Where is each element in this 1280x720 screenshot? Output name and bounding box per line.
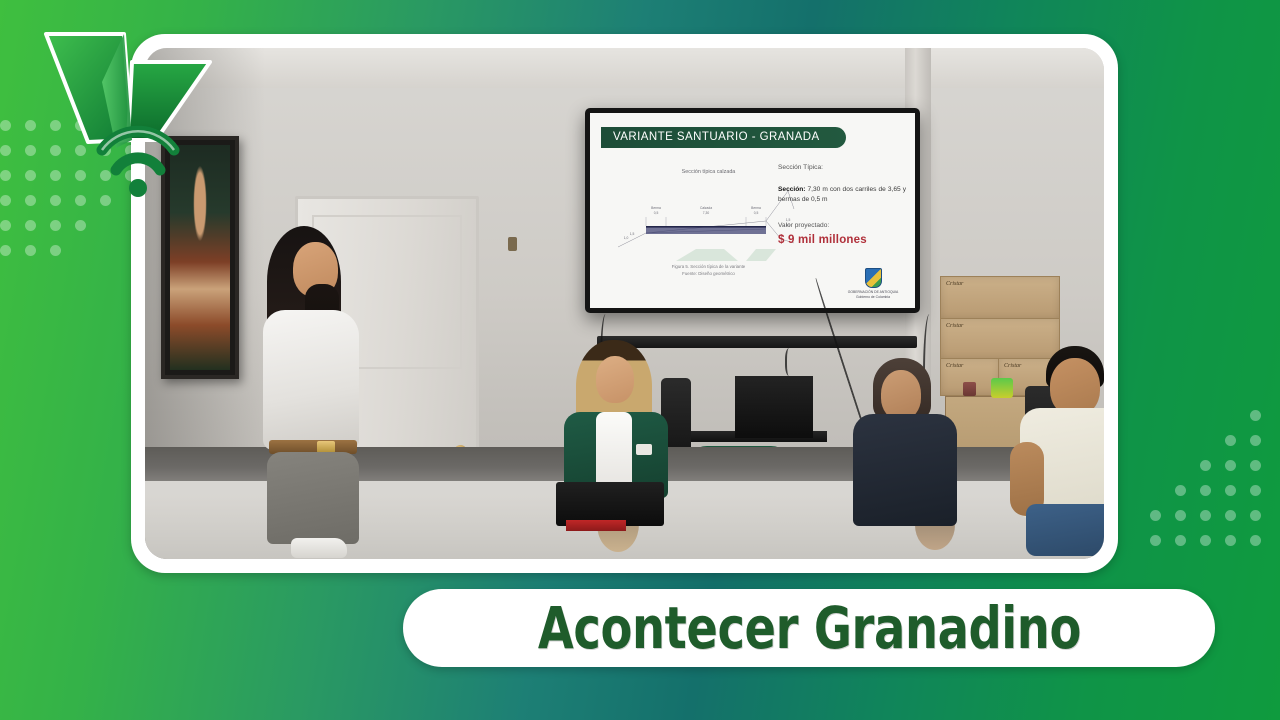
decorative-dot	[1175, 485, 1186, 496]
svg-text:7,30: 7,30	[703, 211, 710, 215]
svg-text:0,5: 0,5	[754, 211, 759, 215]
slide-text-column: Sección Típica: Sección: 7,30 m con dos …	[778, 163, 906, 249]
slide-section-label: Sección Típica:	[778, 163, 906, 173]
diagram-caption: Sección típica calzada	[616, 169, 801, 175]
decorative-dot	[25, 245, 36, 256]
decorative-dot	[1250, 435, 1261, 446]
decorative-dot	[1225, 510, 1236, 521]
red-folder	[566, 520, 626, 531]
television: VARIANTE SANTUARIO - GRANADA Sección típ…	[585, 108, 920, 313]
door-latch	[508, 237, 517, 251]
decorative-dot	[1225, 460, 1236, 471]
decorative-dot	[0, 120, 11, 131]
decorative-dot	[0, 245, 11, 256]
decorative-dot	[1225, 485, 1236, 496]
laptop-woman-white-shirt	[596, 412, 632, 492]
slide-section-body-bold: Sección:	[778, 186, 805, 193]
meeting-room-photo: VARIANTE SANTUARIO - GRANADA Sección típ…	[145, 48, 1104, 559]
svg-text:Berma: Berma	[651, 206, 661, 210]
diagram-footnote: Figura 5. Sección típica de la variante …	[616, 264, 801, 277]
decorative-dot	[1250, 460, 1261, 471]
person-seated-woman-laptop	[550, 340, 685, 540]
broadcast-graphic-stage: VARIANTE SANTUARIO - GRANADA Sección típ…	[0, 0, 1280, 720]
box-item: Cristar	[940, 276, 1060, 320]
decorative-dot	[1200, 535, 1211, 546]
decorative-dot	[0, 145, 11, 156]
laptop-woman-vest-badge	[636, 444, 652, 455]
svg-text:0,5: 0,5	[654, 211, 659, 215]
svg-text:1,0: 1,0	[624, 236, 629, 240]
decorative-dot	[1250, 410, 1261, 421]
decorative-dot-grid-right	[1150, 410, 1280, 580]
person-presenter-standing	[245, 226, 377, 559]
presenter-shoes	[291, 538, 347, 558]
photo-frame: VARIANTE SANTUARIO - GRANADA Sección típ…	[131, 34, 1118, 573]
slide-value-label: Valor proyectado:	[778, 221, 906, 231]
decorative-dot	[1250, 510, 1261, 521]
slide-banner-title: VARIANTE SANTUARIO - GRANADA	[601, 127, 846, 148]
elder-woman-head	[881, 370, 921, 420]
decorative-dot	[0, 220, 11, 231]
person-seated-elder-woman	[845, 358, 965, 533]
decorative-dot	[1200, 485, 1211, 496]
presenter-grey-pants	[267, 452, 359, 544]
decorative-dot	[1175, 535, 1186, 546]
program-title: Acontecer Granadino	[537, 599, 1080, 657]
decorative-dot	[1200, 510, 1211, 521]
slide-footer-logo-line2: Gobierno de Colombia	[845, 295, 901, 300]
slide-cross-section-diagram: Sección típica calzada Berma	[616, 169, 801, 279]
svg-text:Calzada: Calzada	[700, 206, 712, 210]
v-broadcast-logo-icon	[28, 22, 228, 222]
elder-woman-jacket	[853, 414, 957, 526]
presentation-slide: VARIANTE SANTUARIO - GRANADA Sección típ…	[590, 113, 915, 308]
gobernacion-antioquia-logo: GOBERNACIÓN DE ANTIOQUIA Gobierno de Col…	[845, 268, 901, 300]
person-seated-man	[1010, 346, 1104, 559]
diagram-footnote-line2: Fuente: Diseño geométrico	[616, 271, 801, 277]
decorative-dot	[1250, 535, 1261, 546]
subwoofer-speaker	[735, 376, 813, 438]
man-jeans	[1026, 504, 1104, 556]
svg-text:1,5: 1,5	[630, 232, 635, 236]
cable-center	[785, 348, 795, 376]
decorative-dot	[50, 245, 61, 256]
ceiling	[145, 48, 1104, 88]
decorative-dot	[1225, 535, 1236, 546]
lower-third-title-bar: Acontecer Granadino	[403, 589, 1215, 667]
decorative-dot	[1150, 535, 1161, 546]
slide-value-amount: $ 9 mil millones	[778, 232, 906, 249]
decorative-dot	[1225, 435, 1236, 446]
slide-section-body: Sección: 7,30 m con dos carriles de 3,65…	[778, 185, 906, 205]
decorative-dot	[0, 170, 11, 181]
svg-text:Berma: Berma	[751, 206, 761, 210]
laptop-woman-head	[596, 356, 634, 403]
decorative-dot	[1175, 510, 1186, 521]
decorative-dot	[1150, 510, 1161, 521]
shield-icon	[865, 268, 882, 288]
decorative-dot	[1250, 485, 1261, 496]
decorative-dot	[0, 195, 11, 206]
presenter-white-shirt	[263, 310, 359, 450]
decorative-dot	[1200, 460, 1211, 471]
